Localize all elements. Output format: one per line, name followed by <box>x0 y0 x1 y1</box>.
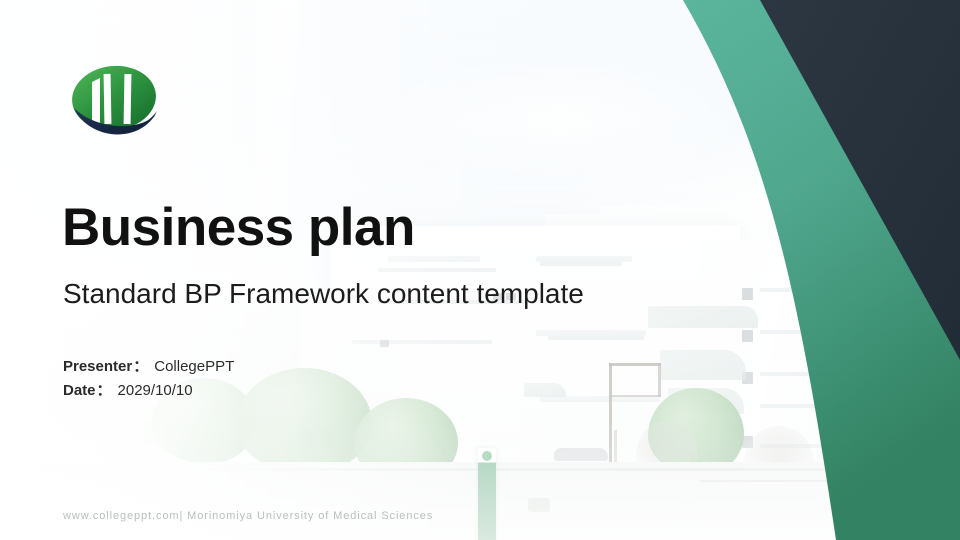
street-light-brace <box>609 395 661 397</box>
facade-band <box>760 288 856 292</box>
facade-band <box>548 336 644 340</box>
facade-window <box>742 288 753 300</box>
logo-stroke-left <box>92 78 100 124</box>
slide-metadata: Presenter：CollegePPT Date：2029/10/10 <box>63 355 234 403</box>
fence-rail <box>700 480 850 482</box>
date-value: 2029/10/10 <box>113 382 193 399</box>
logo-stroke-mid-left <box>104 74 112 124</box>
logo-stroke-mid-right <box>124 74 132 124</box>
presenter-separator: ： <box>132 358 149 375</box>
facade-window <box>742 330 753 342</box>
building-canopy <box>660 350 746 380</box>
page-title: Business plan <box>62 200 415 256</box>
page-subtitle: Standard BP Framework content template <box>63 278 584 310</box>
facade-band <box>760 404 856 408</box>
building-canopy <box>524 383 566 397</box>
street-light-drop <box>658 363 661 397</box>
date-label: Date <box>63 382 96 399</box>
building-ledge <box>536 330 646 336</box>
street-light-arm <box>609 363 661 366</box>
building-canopy <box>648 306 758 328</box>
building-ledge <box>536 256 632 262</box>
parked-car <box>554 448 608 461</box>
presenter-value: CollegePPT <box>149 358 234 375</box>
date-row: Date：2029/10/10 <box>63 379 234 403</box>
presenter-row: Presenter：CollegePPT <box>63 355 234 379</box>
date-separator: ： <box>96 382 113 399</box>
tree <box>236 368 372 474</box>
curb-line <box>120 468 960 471</box>
facade-band <box>352 340 492 344</box>
campus-signpost <box>478 448 496 540</box>
footer-credit: www.collegeppt.com| Morinomiya Universit… <box>63 510 433 522</box>
planter <box>528 498 550 512</box>
facade-band <box>378 268 496 272</box>
facade-band <box>540 262 622 266</box>
title-slide: Business plan Standard BP Framework cont… <box>0 0 960 540</box>
facade-band <box>760 330 856 334</box>
facade-band <box>760 372 856 376</box>
facade-window <box>380 340 389 347</box>
university-logo <box>62 52 166 144</box>
presenter-label: Presenter <box>63 358 132 375</box>
